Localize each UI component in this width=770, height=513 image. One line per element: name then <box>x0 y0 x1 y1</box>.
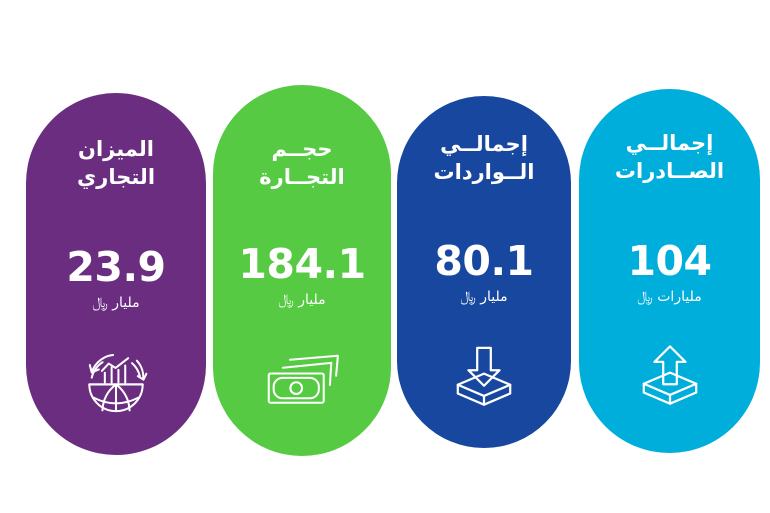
card-unit: مليار ﷼ <box>26 295 206 312</box>
arrow-down-into-platform-icon <box>451 344 517 410</box>
card-value-block: 23.9 مليار ﷼ <box>26 247 206 312</box>
card-value: 80.1 <box>397 241 571 282</box>
stat-card-total-imports[interactable]: إجمالــي الــواردات 80.1 مليار ﷼ <box>397 96 571 448</box>
card-unit: مليارات ﷼ <box>579 289 760 306</box>
stat-card-trade-balance[interactable]: الميزان التجاري 23.9 مليار ﷼ <box>26 93 206 455</box>
card-value-block: 104 مليارات ﷼ <box>579 241 760 306</box>
card-value-block: 184.1 مليار ﷼ <box>213 244 391 309</box>
stat-card-trade-volume[interactable]: حجــم التجــارة 184.1 مليار ﷼ <box>213 85 391 456</box>
globe-bar-chart-growth-icon <box>83 349 149 415</box>
card-unit: مليار ﷼ <box>397 289 571 306</box>
card-value: 104 <box>579 241 760 282</box>
card-title: إجمالــي الــواردات <box>420 130 549 186</box>
card-title: حجــم التجــارة <box>245 135 359 191</box>
trade-statistics-infographic: الميزان التجاري 23.9 مليار ﷼ <box>0 0 770 513</box>
stat-card-total-exports[interactable]: إجمالــي الصــادرات 104 مليارات ﷼ <box>579 89 760 453</box>
card-value: 23.9 <box>26 247 206 288</box>
card-title: الميزان التجاري <box>63 135 169 191</box>
card-value: 184.1 <box>213 244 391 285</box>
stacked-banknotes-icon <box>263 352 341 410</box>
arrow-up-from-platform-icon <box>637 343 703 409</box>
card-value-block: 80.1 مليار ﷼ <box>397 241 571 306</box>
card-title: إجمالــي الصــادرات <box>601 129 738 185</box>
card-unit: مليار ﷼ <box>213 292 391 309</box>
